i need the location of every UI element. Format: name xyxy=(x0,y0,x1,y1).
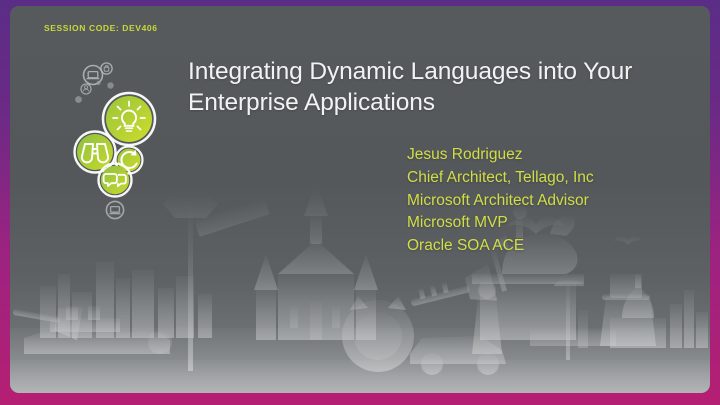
user-badge-icon xyxy=(81,84,91,94)
session-code-label: SESSION CODE: DEV406 xyxy=(44,23,158,33)
binoculars-icon xyxy=(75,132,116,173)
slide-surface: SESSION CODE: DEV406 xyxy=(10,6,710,393)
title-line-2: Enterprise Applications xyxy=(188,87,688,118)
dot-icon xyxy=(107,82,113,88)
lock-badge-icon xyxy=(101,63,112,74)
icon-cluster xyxy=(65,56,185,226)
speaker-name: Jesus Rodriguez xyxy=(407,144,594,167)
speaker-info: Jesus Rodriguez Chief Architect, Tellago… xyxy=(407,144,594,258)
page-title: Integrating Dynamic Languages into Your … xyxy=(188,56,688,119)
speaker-title: Chief Architect, Tellago, Inc xyxy=(407,167,594,190)
speech-bubbles-icon xyxy=(99,164,132,197)
monitor-icon xyxy=(106,201,123,218)
speaker-credential-2: Microsoft MVP xyxy=(407,212,594,235)
title-line-1: Integrating Dynamic Languages into Your xyxy=(188,56,688,87)
dot-icon xyxy=(75,96,82,103)
presentation-slide: SESSION CODE: DEV406 xyxy=(0,0,720,405)
speaker-credential-3: Oracle SOA ACE xyxy=(407,235,594,258)
speaker-credential-1: Microsoft Architect Advisor xyxy=(407,190,594,213)
dot-icon xyxy=(96,81,100,85)
